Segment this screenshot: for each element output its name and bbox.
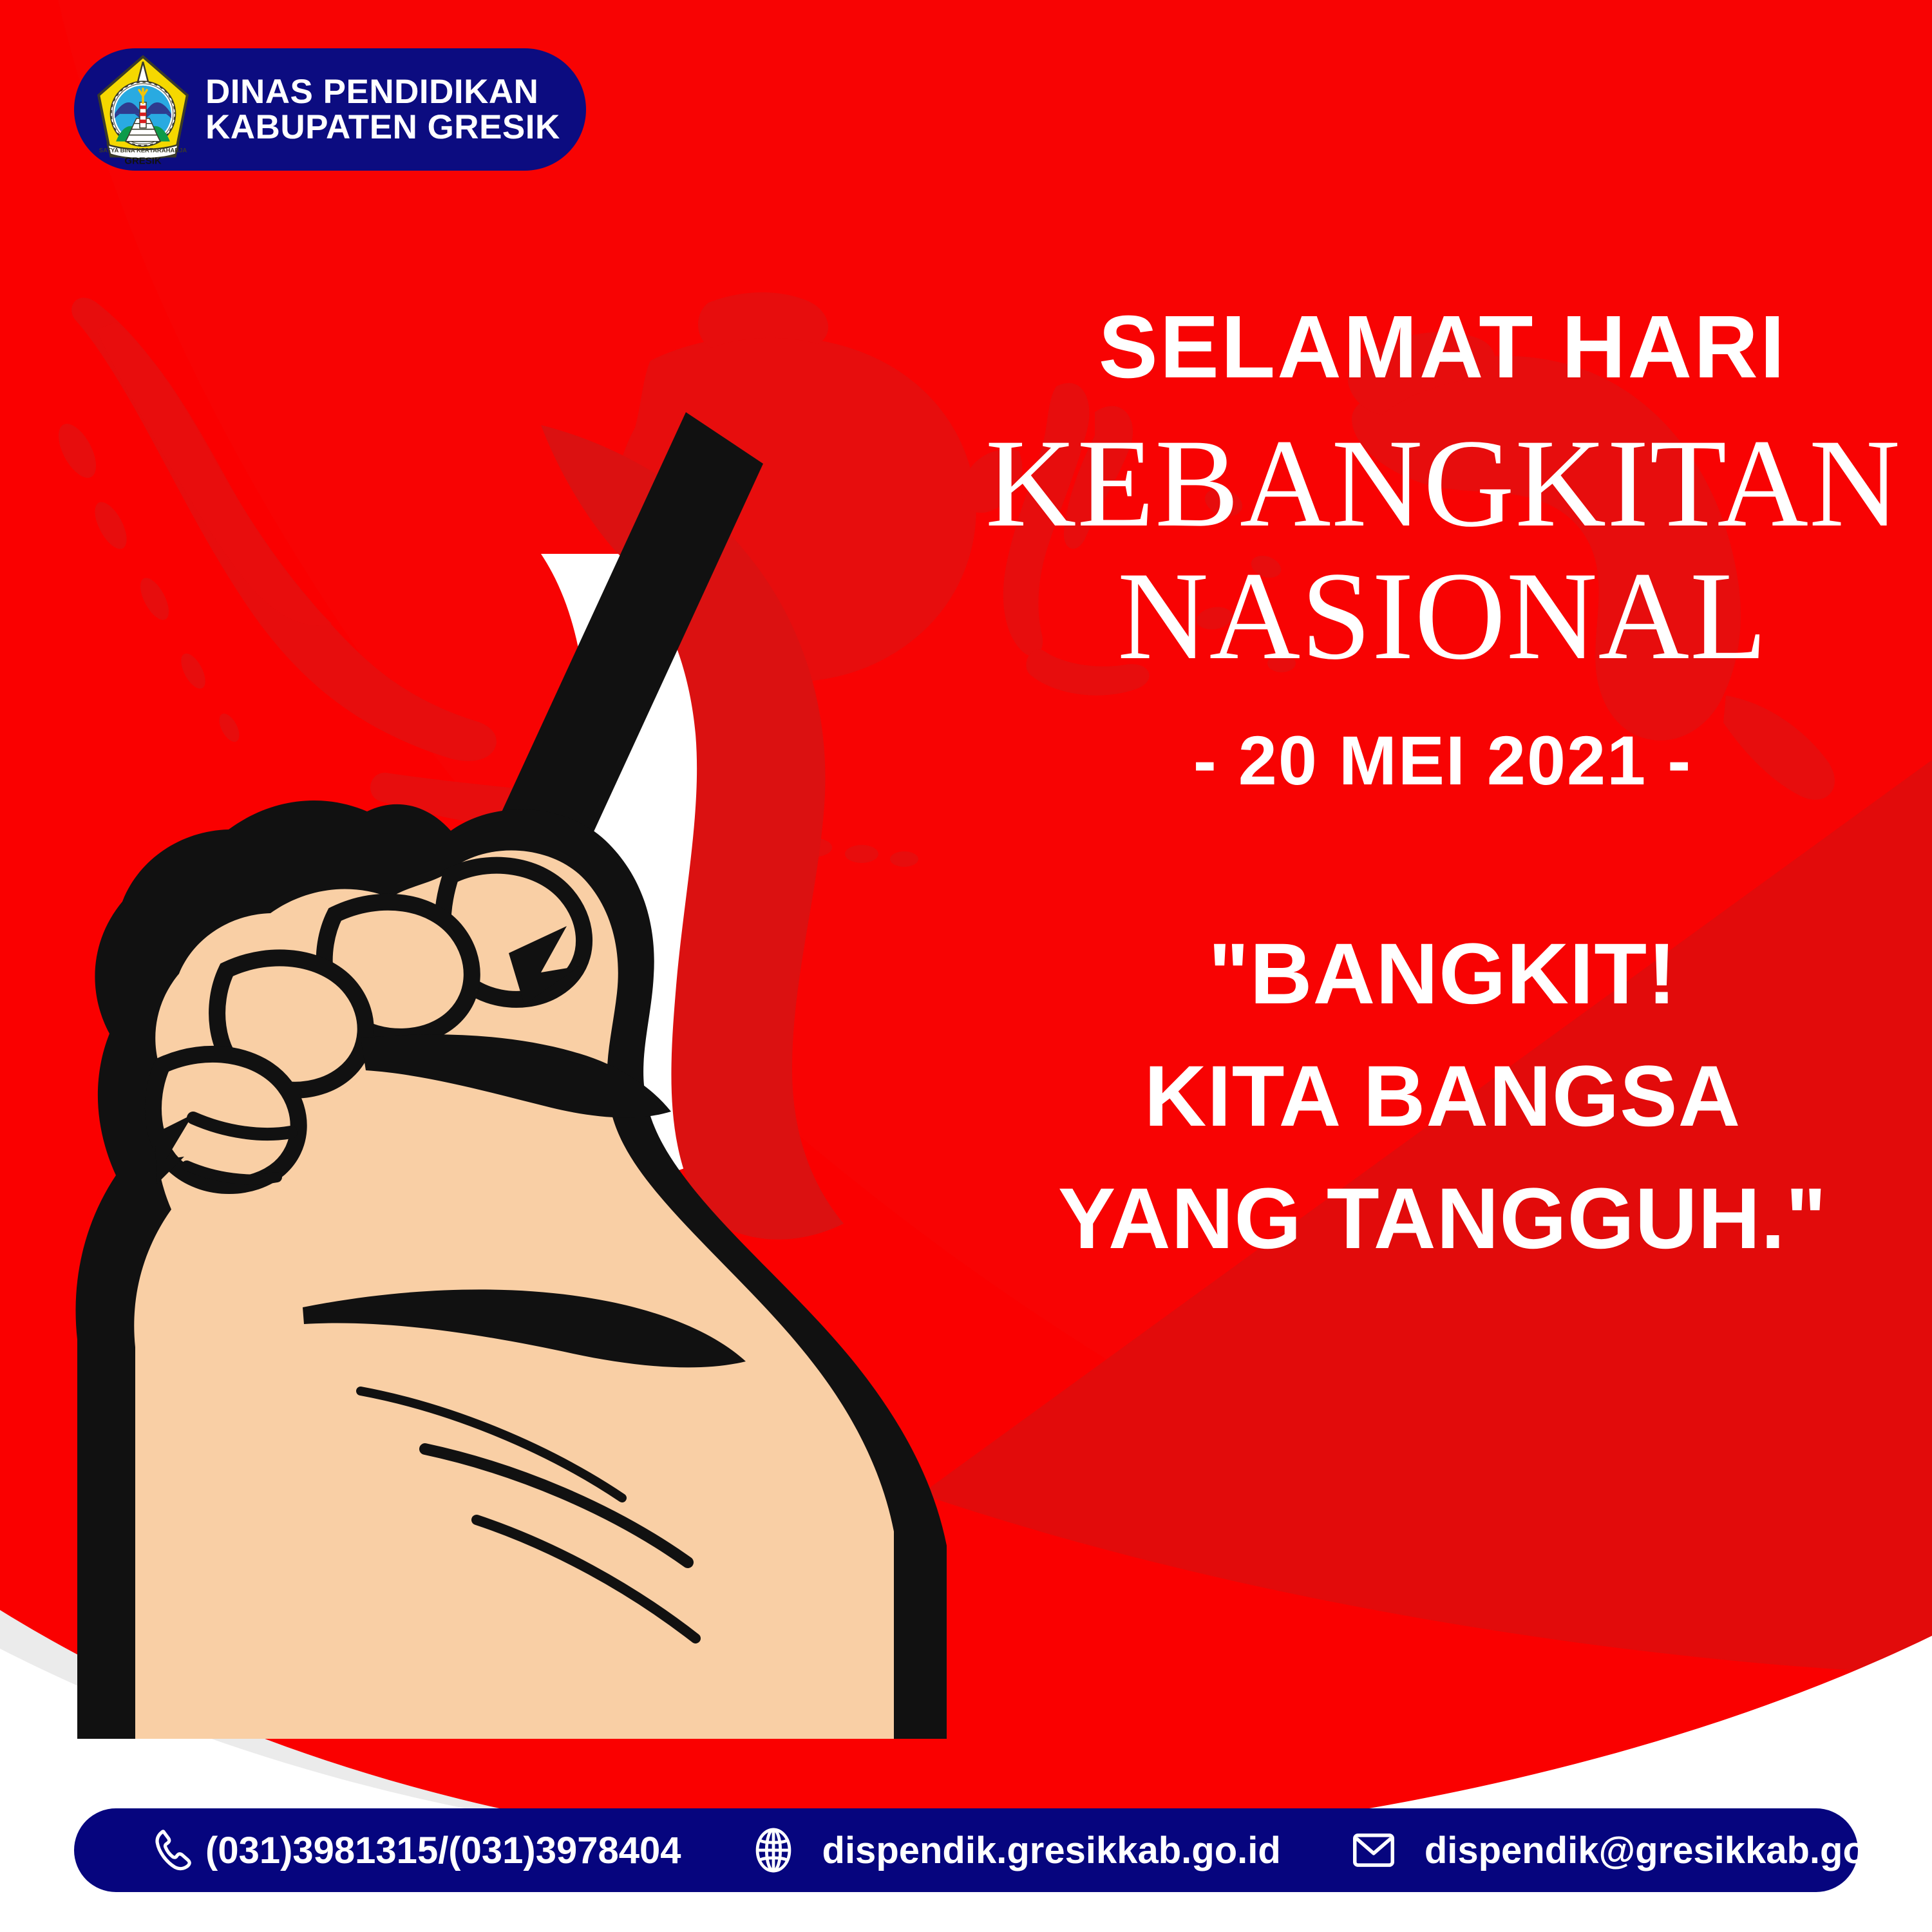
footer-phone-item[interactable]: (031)3981315/(031)3978404 bbox=[151, 1826, 681, 1874]
organization-name: DINAS PENDIDIKAN KABUPATEN GRESIK bbox=[205, 74, 560, 145]
slogan-line-2: KITA BANGSA bbox=[985, 1036, 1900, 1158]
envelope-icon bbox=[1349, 1825, 1399, 1875]
slogan-quote: "BANGKIT! KITA BANGSA YANG TANGGUH." bbox=[985, 913, 1900, 1281]
emblem-region-label: GRESIK bbox=[124, 156, 161, 165]
event-date: - 20 MEI 2021 - bbox=[985, 720, 1900, 800]
organization-name-line2: KABUPATEN GRESIK bbox=[205, 109, 560, 145]
fist-holding-indonesian-flag bbox=[0, 386, 1030, 1739]
clenched-fist bbox=[76, 800, 947, 1739]
poster-canvas: SATYA BINA KERTARAHARJA GRESIK DINAS PEN… bbox=[0, 0, 1932, 1932]
title-line-2: NASIONAL bbox=[985, 550, 1900, 683]
phone-icon bbox=[151, 1826, 199, 1874]
emblem-motto-text: SATYA BINA KERTARAHARJA bbox=[99, 147, 187, 155]
headline-block: SELAMAT HARI KEBANGKITAN NASIONAL - 20 M… bbox=[985, 303, 1900, 1280]
footer-email-label: dispendik@gresikkab.go.id bbox=[1425, 1829, 1909, 1872]
organization-name-line1: DINAS PENDIDIKAN bbox=[205, 74, 560, 109]
footer-phone-label: (031)3981315/(031)3978404 bbox=[205, 1829, 681, 1872]
footer-email-item[interactable]: dispendik@gresikkab.go.id bbox=[1349, 1825, 1909, 1875]
title-line-1: KEBANGKITAN bbox=[985, 417, 1900, 550]
slogan-line-1: "BANGKIT! bbox=[985, 913, 1900, 1036]
footer-website-item[interactable]: dispendik.gresikkab.go.id bbox=[749, 1826, 1281, 1875]
footer-contact-bar: (031)3981315/(031)3978404 dispendik.gres… bbox=[74, 1808, 1858, 1892]
greeting-line: SELAMAT HARI bbox=[985, 303, 1900, 392]
globe-icon bbox=[749, 1826, 798, 1875]
gresik-regency-emblem-icon: SATYA BINA KERTARAHARJA GRESIK bbox=[95, 54, 191, 165]
organization-logo-badge[interactable]: SATYA BINA KERTARAHARJA GRESIK DINAS PEN… bbox=[74, 48, 586, 171]
slogan-line-3: YANG TANGGUH." bbox=[985, 1158, 1900, 1280]
footer-website-label: dispendik.gresikkab.go.id bbox=[822, 1829, 1281, 1872]
